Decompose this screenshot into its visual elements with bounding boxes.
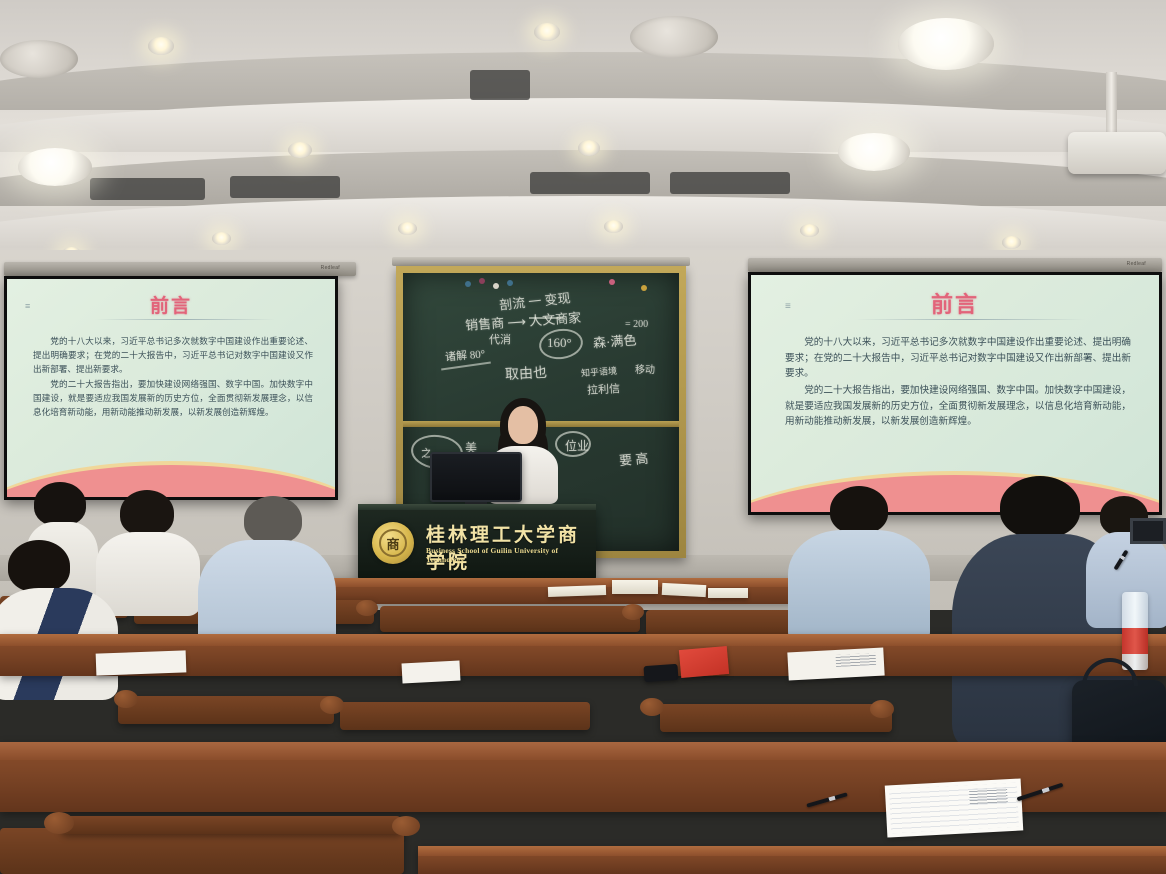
chalk-arrow xyxy=(529,317,563,319)
bench-row-4 xyxy=(340,702,590,730)
chalk-note: 取由也 xyxy=(505,362,548,384)
loose-papers xyxy=(402,660,461,683)
bottle-label xyxy=(1122,628,1148,654)
open-book xyxy=(708,588,748,598)
podium-top-edge xyxy=(358,504,596,510)
bench-armrest xyxy=(114,690,138,708)
desk-surface xyxy=(418,846,1166,856)
bench-row-2 xyxy=(380,606,640,632)
chalk-note: 代消 xyxy=(489,331,511,347)
podium-name-en: Business School of Guilin University of … xyxy=(426,546,588,564)
slide-paragraph-1: 党的十八大以来，习近平总书记多次就数字中国建设作出重要论述、提出明确要求；在党的… xyxy=(785,335,1131,382)
bench-backrest xyxy=(60,816,404,834)
red-booklet xyxy=(679,646,729,678)
bench-armrest xyxy=(44,812,74,834)
ceiling-downlight xyxy=(800,224,819,237)
chalk-note: 知乎语境 xyxy=(581,364,618,379)
chalk-circle xyxy=(537,326,585,362)
ceiling-speaker xyxy=(0,40,78,78)
bench-armrest xyxy=(622,604,644,620)
wall-frame xyxy=(1130,518,1166,544)
attendee-shirt xyxy=(788,530,930,646)
ceiling-downlight xyxy=(1002,236,1021,249)
bench-row-4 xyxy=(660,704,892,732)
attendee-left-foreground-striped xyxy=(0,540,116,700)
slide-title: 前言 xyxy=(7,291,335,318)
presenter-face xyxy=(508,406,538,444)
podium: 商 桂林理工大学商学院 Business School of Guilin Un… xyxy=(358,504,596,579)
magnet xyxy=(609,279,615,285)
podium-monitor xyxy=(430,452,522,502)
ceiling xyxy=(0,0,1166,268)
blackboard-rail xyxy=(392,257,690,266)
magnet xyxy=(493,283,499,289)
attendee-hair xyxy=(34,482,86,526)
bench-armrest xyxy=(320,696,344,714)
magnet xyxy=(479,278,485,284)
ceiling-duct xyxy=(470,70,530,100)
slide-paragraph-1: 党的十八大以来，习近平总书记多次就数字中国建设作出重要论述、提出明确要求；在党的… xyxy=(33,335,313,377)
bench-row-4 xyxy=(118,696,334,724)
chalk-note: = 200 xyxy=(625,319,648,330)
ceiling-downlight xyxy=(148,37,174,55)
university-crest-icon: 商 xyxy=(372,522,414,564)
magnet xyxy=(465,281,471,287)
ceiling-downlight xyxy=(288,142,312,158)
ceiling-downlight xyxy=(534,23,560,41)
magnet xyxy=(507,280,513,286)
ceiling-light-fixture xyxy=(898,18,994,70)
loose-papers xyxy=(787,648,884,681)
attendee-hair xyxy=(120,490,174,536)
chalk-note: 森·满色 xyxy=(592,330,637,352)
left-screen-housing: Redleaf xyxy=(4,262,356,276)
chalk-note: 拉利信 xyxy=(587,380,621,398)
bench-armrest xyxy=(392,816,420,836)
slide-body-left: 党的十八大以来，习近平总书记多次就数字中国建设作出重要论述、提出明确要求；在党的… xyxy=(33,335,313,421)
chalk-note: 移动 xyxy=(635,361,655,376)
smartphone xyxy=(643,664,678,682)
right-screen-housing: Redleaf xyxy=(748,258,1162,272)
open-book xyxy=(548,585,606,597)
bench-armrest xyxy=(640,698,664,716)
title-divider xyxy=(855,319,1085,320)
ceiling-downlight xyxy=(578,140,600,156)
chalk-note: 要 高 xyxy=(618,448,649,469)
screen-brand-label: Redleaf xyxy=(1127,261,1146,267)
notebook-handwriting xyxy=(969,787,1008,805)
ceiling-downlight xyxy=(398,222,417,235)
loose-papers xyxy=(96,650,187,675)
title-divider xyxy=(95,319,275,320)
ceiling-speaker xyxy=(630,16,718,58)
slide-title: 前言 xyxy=(751,287,1159,319)
slide-paragraph-2: 党的二十大报告指出，要加快建设网络强国、数字中国。加快数字中国建设，就是要适应我… xyxy=(33,378,313,420)
attendee-hair xyxy=(830,486,888,534)
projector-mount-pole xyxy=(1106,72,1117,134)
ceiling-light-fixture xyxy=(18,148,92,186)
chalk-note: 诸解 80° xyxy=(444,345,485,364)
ceiling-vent xyxy=(670,172,790,194)
paper-text-lines xyxy=(836,653,877,667)
ceiling-vent xyxy=(530,172,650,194)
ceiling-downlight xyxy=(212,232,231,245)
ceiling-light-fixture xyxy=(838,133,910,171)
ceiling-projector xyxy=(1068,132,1166,174)
open-book xyxy=(612,580,658,594)
magnet xyxy=(641,285,647,291)
attendee-hair xyxy=(244,496,302,544)
attendee-hair xyxy=(8,540,70,592)
bench-row-2 xyxy=(646,610,806,636)
attendee-hair xyxy=(1000,476,1080,538)
slide-body-right: 党的十八大以来，习近平总书记多次就数字中国建设作出重要论述、提出明确要求；在党的… xyxy=(785,335,1131,431)
slide-paragraph-2: 党的二十大报告指出，要加快建设网络强国、数字中国。加快数字中国建设，就是要适应我… xyxy=(785,383,1131,430)
open-notebook xyxy=(885,778,1024,837)
lecture-hall-scene: Redleaf ≡ 前言 党的十八大以来，习近平总书记多次就数字中国建设作出重要… xyxy=(0,0,1166,874)
bench-row-6 xyxy=(0,828,404,874)
ceiling-vent xyxy=(230,176,340,198)
desk-row-6 xyxy=(418,846,1166,874)
bench-armrest xyxy=(356,600,378,616)
water-bottle xyxy=(1122,592,1148,670)
desk-surface xyxy=(0,634,1166,646)
ceiling-vent xyxy=(90,178,205,200)
crest-glyph: 商 xyxy=(379,529,407,557)
bench-armrest xyxy=(870,700,894,718)
attendee-right-blue-shirt xyxy=(788,486,926,646)
desk-surface xyxy=(0,742,1166,760)
left-projection-screen: ≡ 前言 党的十八大以来，习近平总书记多次就数字中国建设作出重要论述、提出明确要… xyxy=(4,276,338,500)
open-book xyxy=(662,583,707,597)
screen-brand-label: Redleaf xyxy=(321,265,340,271)
slide-left: ≡ 前言 党的十八大以来，习近平总书记多次就数字中国建设作出重要论述、提出明确要… xyxy=(7,279,335,497)
ceiling-downlight xyxy=(604,220,623,233)
